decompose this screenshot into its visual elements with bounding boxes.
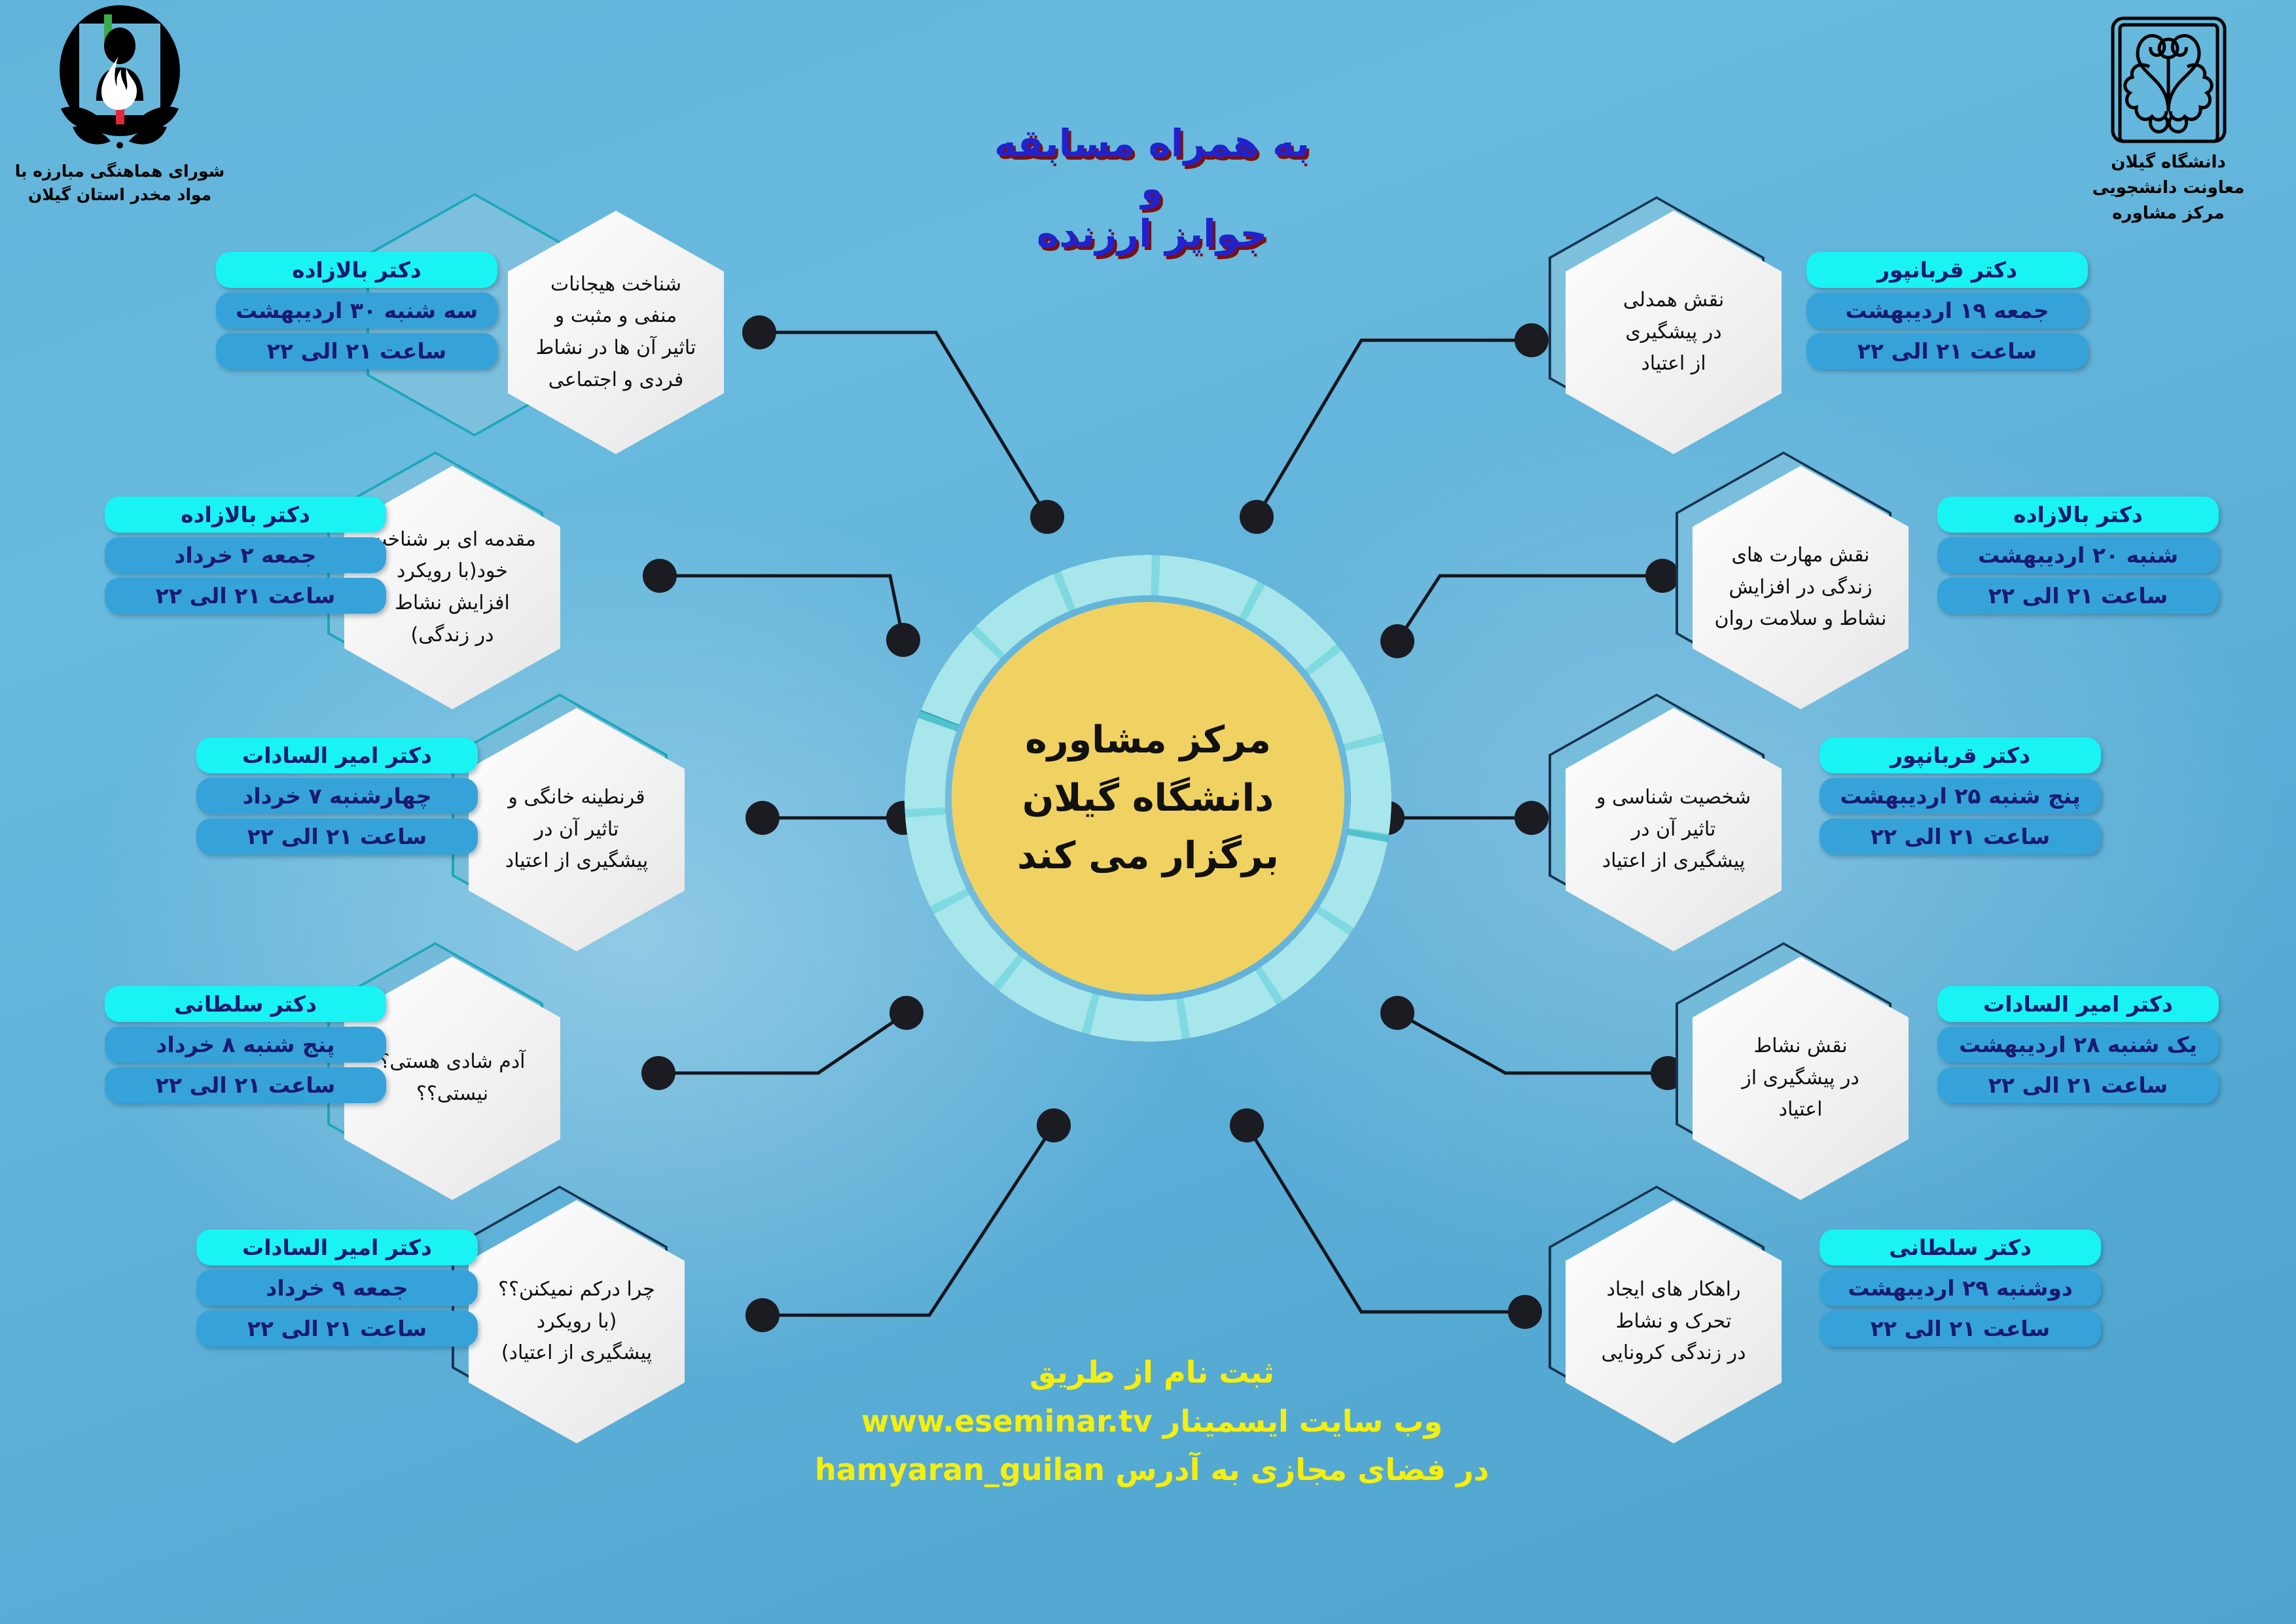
presenter-badge[interactable]: دکتر سلطانی <box>1820 1229 2101 1265</box>
time-badge[interactable]: ساعت ۲۱ الی ۲۲ <box>105 578 386 614</box>
line: آدم شادی هستی؟ <box>379 1046 525 1078</box>
line: نقش مهارت های <box>1731 540 1869 572</box>
presenter-badge[interactable]: دکتر بالازاده <box>105 497 386 533</box>
time-badge[interactable]: ساعت ۲۱ الی ۲۲ <box>216 333 497 369</box>
hex-card-left-1[interactable]: شناخت هیجانات منفی و مثبت و تاثیر آن ها … <box>508 211 724 454</box>
time-badge[interactable]: ساعت ۲۱ الی ۲۲ <box>1820 1311 2101 1347</box>
emblem-left-council: شورای هماهنگی مبارزه با مواد مخدر استان … <box>12 5 228 207</box>
hex-card-right-3[interactable]: شخصیت شناسی و تاثیر آن در پیشگیری از اعت… <box>1566 708 1782 951</box>
session-info-right-1: دکتر قربانپور جمعه ۱۹ اردیبهشت ساعت ۲۱ ا… <box>1806 247 2088 374</box>
date-badge[interactable]: جمعه ۹ خرداد <box>196 1270 478 1306</box>
date-badge[interactable]: پنج شنبه ۸ خرداد <box>105 1027 386 1063</box>
line: اعتیاد <box>1779 1094 1823 1126</box>
presenter-badge[interactable]: دکتر امیر السادات <box>196 1229 478 1265</box>
line: تاثیر آن ها در نشاط <box>536 332 696 364</box>
date-badge[interactable]: جمعه ۱۹ اردیبهشت <box>1806 292 2088 328</box>
footer-website-label: وب سایت ایسمینار <box>1163 1403 1443 1439</box>
line: از اعتیاد <box>1641 348 1706 380</box>
line: چرا درکم نمیکنن؟؟ <box>498 1274 655 1306</box>
emblem-right-caption-line3: مرکز مشاوره <box>2060 201 2276 226</box>
session-info-left-2: دکتر بالازاده جمعه ۲ خرداد ساعت ۲۱ الی ۲… <box>105 492 386 618</box>
time-badge[interactable]: ساعت ۲۱ الی ۲۲ <box>196 819 478 855</box>
anti-narcotics-council-logo-icon <box>48 5 192 156</box>
center-line-1: مرکز مشاوره <box>1025 711 1271 769</box>
hex-text-left-1: شناخت هیجانات منفی و مثبت و تاثیر آن ها … <box>508 211 724 454</box>
date-badge[interactable]: دوشنبه ۲۹ اردیبهشت <box>1820 1270 2101 1306</box>
headline-line-2: و <box>903 168 1401 210</box>
footer-social-label: در فضای مجازی به آدرس <box>1115 1452 1489 1487</box>
hex-card-right-1[interactable]: نقش همدلی در پیشگیری از اعتیاد <box>1566 211 1782 454</box>
center-disc: مرکز مشاوره دانشگاه گیلان برگزار می کند <box>952 602 1344 995</box>
center-line-3: برگزار می کند <box>1017 827 1279 885</box>
session-info-left-1: دکتر بالازاده سه شنبه ۳۰ اردیبهشت ساعت ۲… <box>216 247 497 374</box>
hex-card-left-5[interactable]: چرا درکم نمیکنن؟؟ (با رویکرد پیشگیری از … <box>469 1200 685 1443</box>
session-info-right-2: دکتر بالازاده شنبه ۲۰ اردیبهشت ساعت ۲۱ ا… <box>1937 492 2219 618</box>
session-info-right-4: دکتر امیر السادات یک شنبه ۲۸ اردیبهشت سا… <box>1937 981 2219 1108</box>
line: نقش همدلی <box>1623 285 1724 317</box>
hex-text-left-5: چرا درکم نمیکنن؟؟ (با رویکرد پیشگیری از … <box>469 1200 685 1443</box>
line: راهکار های ایجاد <box>1607 1274 1741 1306</box>
presenter-badge[interactable]: دکتر سلطانی <box>105 986 386 1022</box>
line: شناخت هیجانات <box>550 269 681 301</box>
line: نشاط و سلامت روان <box>1715 603 1887 635</box>
presenter-badge[interactable]: دکتر بالازاده <box>1937 497 2219 533</box>
line: پیشگیری از اعتیاد <box>505 845 649 877</box>
headline-line-3: جوایز ارزنده <box>903 211 1401 256</box>
presenter-badge[interactable]: دکتر قربانپور <box>1806 252 2088 288</box>
line: تاثیر آن در <box>535 814 619 846</box>
center-line-2: دانشگاه گیلان <box>1022 769 1274 827</box>
footer-line-3: در فضای مجازی به آدرس hamyaran_guilan <box>655 1445 1649 1494</box>
line: پیشگیری از اعتیاد <box>1602 845 1746 877</box>
session-info-left-4: دکتر سلطانی پنج شنبه ۸ خرداد ساعت ۲۱ الی… <box>105 981 386 1108</box>
emblem-right-caption-line1: دانشگاه گیلان <box>2060 150 2276 175</box>
line: تاثیر آن در <box>1632 814 1716 846</box>
hex-text-right-2: نقش مهارت های زندگی در افزایش نشاط و سلا… <box>1693 466 1909 709</box>
line: مقدمه ای بر شناخت <box>368 524 536 556</box>
hex-text-right-3: شخصیت شناسی و تاثیر آن در پیشگیری از اعت… <box>1566 708 1782 951</box>
time-badge[interactable]: ساعت ۲۱ الی ۲۲ <box>196 1311 478 1347</box>
date-badge[interactable]: پنج شنبه ۲۵ اردیبهشت <box>1820 778 2101 814</box>
line: منفی و مثبت و <box>555 300 677 332</box>
line: نیستی؟؟ <box>416 1078 488 1110</box>
registration-footer: ثبت نام از طریق وب سایت ایسمینار www.ese… <box>655 1348 1649 1494</box>
line: پیشگیری از اعتیاد) <box>501 1337 652 1369</box>
headline-line-1: به همراه مسابقه <box>903 121 1401 166</box>
time-badge[interactable]: ساعت ۲۱ الی ۲۲ <box>1937 1067 2219 1103</box>
line: افزایش نشاط <box>395 588 510 620</box>
line: قرنطینه خانگی و <box>508 782 645 814</box>
line: نقش نشاط <box>1753 1031 1847 1063</box>
date-badge[interactable]: سه شنبه ۳۰ اردیبهشت <box>216 292 497 328</box>
presenter-badge[interactable]: دکتر قربانپور <box>1820 737 2101 773</box>
date-badge[interactable]: شنبه ۲۰ اردیبهشت <box>1937 537 2219 573</box>
session-info-left-3: دکتر امیر السادات چهارشنبه ۷ خرداد ساعت … <box>196 733 478 859</box>
line: در زندگی) <box>411 620 494 652</box>
line: خود(با رویکرد <box>397 556 508 588</box>
line: در پیشگیری <box>1625 317 1721 349</box>
time-badge[interactable]: ساعت ۲۱ الی ۲۲ <box>1806 333 2088 369</box>
time-badge[interactable]: ساعت ۲۱ الی ۲۲ <box>1937 578 2219 614</box>
hex-text-left-3: قرنطینه خانگی و تاثیر آن در پیشگیری از ا… <box>469 708 685 951</box>
footer-line-1: ثبت نام از طریق <box>655 1348 1649 1397</box>
emblem-right-caption-line2: معاونت دانشجویی <box>2060 175 2276 201</box>
footer-social-handle[interactable]: hamyaran_guilan <box>815 1452 1105 1487</box>
center-ring-graphic: مرکز مشاوره دانشگاه گیلان برگزار می کند <box>905 555 1391 1042</box>
time-badge[interactable]: ساعت ۲۱ الی ۲۲ <box>105 1067 386 1103</box>
hex-text-right-4: نقش نشاط در پیشگیری از اعتیاد <box>1693 957 1909 1200</box>
emblem-right-university: دانشگاه گیلان معاونت دانشجویی مرکز مشاور… <box>2060 7 2276 226</box>
presenter-badge[interactable]: دکتر امیر السادات <box>196 737 478 773</box>
line: شخصیت شناسی و <box>1596 782 1751 814</box>
university-of-guilan-logo-icon <box>2098 7 2239 147</box>
line: در پیشگیری از <box>1742 1063 1859 1095</box>
line: (با رویکرد <box>537 1306 617 1338</box>
session-info-right-5: دکتر سلطانی دوشنبه ۲۹ اردیبهشت ساعت ۲۱ ا… <box>1820 1225 2101 1351</box>
footer-website-url[interactable]: www.eseminar.tv <box>861 1403 1153 1439</box>
footer-line-2: وب سایت ایسمینار www.eseminar.tv <box>655 1397 1649 1446</box>
time-badge[interactable]: ساعت ۲۱ الی ۲۲ <box>1820 819 2101 855</box>
session-info-right-3: دکتر قربانپور پنج شنبه ۲۵ اردیبهشت ساعت … <box>1820 733 2101 859</box>
presenter-badge[interactable]: دکتر بالازاده <box>216 252 497 288</box>
poster-headline: به همراه مسابقه و جوایز ارزنده <box>903 121 1401 256</box>
hex-card-right-2[interactable]: نقش مهارت های زندگی در افزایش نشاط و سلا… <box>1693 466 1909 709</box>
line: تحرک و نشاط <box>1616 1306 1732 1338</box>
date-badge[interactable]: جمعه ۲ خرداد <box>105 537 386 573</box>
hex-text-right-1: نقش همدلی در پیشگیری از اعتیاد <box>1566 211 1782 454</box>
hex-card-left-3[interactable]: قرنطینه خانگی و تاثیر آن در پیشگیری از ا… <box>469 708 685 951</box>
emblem-left-caption-line1: شورای هماهنگی مبارزه با <box>12 160 228 183</box>
date-badge[interactable]: چهارشنبه ۷ خرداد <box>196 778 478 814</box>
line: فردی و اجتماعی <box>548 364 684 397</box>
hex-card-right-4[interactable]: نقش نشاط در پیشگیری از اعتیاد <box>1693 957 1909 1200</box>
session-info-left-5: دکتر امیر السادات جمعه ۹ خرداد ساعت ۲۱ ا… <box>196 1225 478 1351</box>
date-badge[interactable]: یک شنبه ۲۸ اردیبهشت <box>1937 1027 2219 1063</box>
line: زندگی در افزایش <box>1729 572 1873 604</box>
presenter-badge[interactable]: دکتر امیر السادات <box>1937 986 2219 1022</box>
emblem-left-caption-line2: مواد مخدر استان گیلان <box>12 183 228 207</box>
